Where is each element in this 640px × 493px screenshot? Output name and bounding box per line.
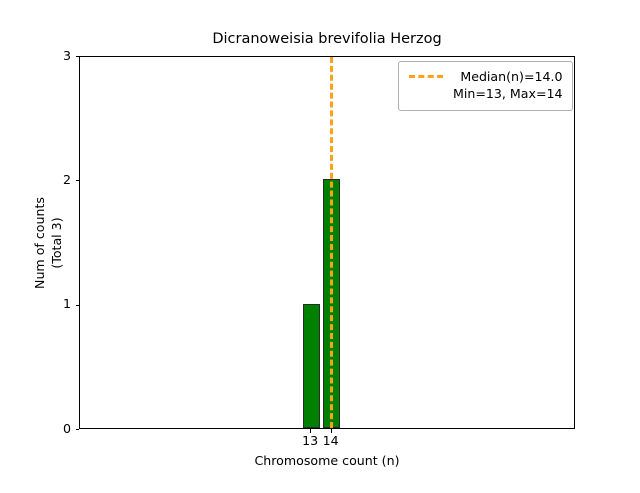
- legend-label-minmax: Min=13, Max=14: [453, 85, 563, 102]
- legend-label-median: Median(n)=14.0: [460, 68, 562, 85]
- plot-area: [79, 56, 575, 429]
- x-axis-label: Chromosome count (n): [79, 453, 575, 468]
- y-axis-label: Num of counts (Total 3): [32, 0, 65, 493]
- chart-title: Dicranoweisia brevifolia Herzog: [79, 30, 575, 48]
- legend-entry-labels: Median(n)=14.0 Min=13, Max=14: [453, 68, 563, 102]
- legend-entry-median: Median(n)=14.0 Min=13, Max=14: [407, 68, 563, 102]
- bar-13[interactable]: [303, 304, 320, 428]
- x-tick-mark-14: [331, 429, 332, 433]
- figure-canvas: Dicranoweisia brevifolia Herzog 0 1 2 3 …: [0, 0, 640, 480]
- y-axis-label-wrap: Num of counts (Total 3): [0, 0, 60, 480]
- x-tick-mark-13: [310, 429, 311, 433]
- plot-inner: [80, 57, 574, 428]
- median-line-sample-icon: [407, 68, 445, 84]
- median-line: [330, 57, 333, 428]
- y-tick-mark-0: [76, 429, 80, 430]
- legend-box: Median(n)=14.0 Min=13, Max=14: [398, 61, 573, 111]
- x-tick-label-14: 14: [316, 434, 346, 448]
